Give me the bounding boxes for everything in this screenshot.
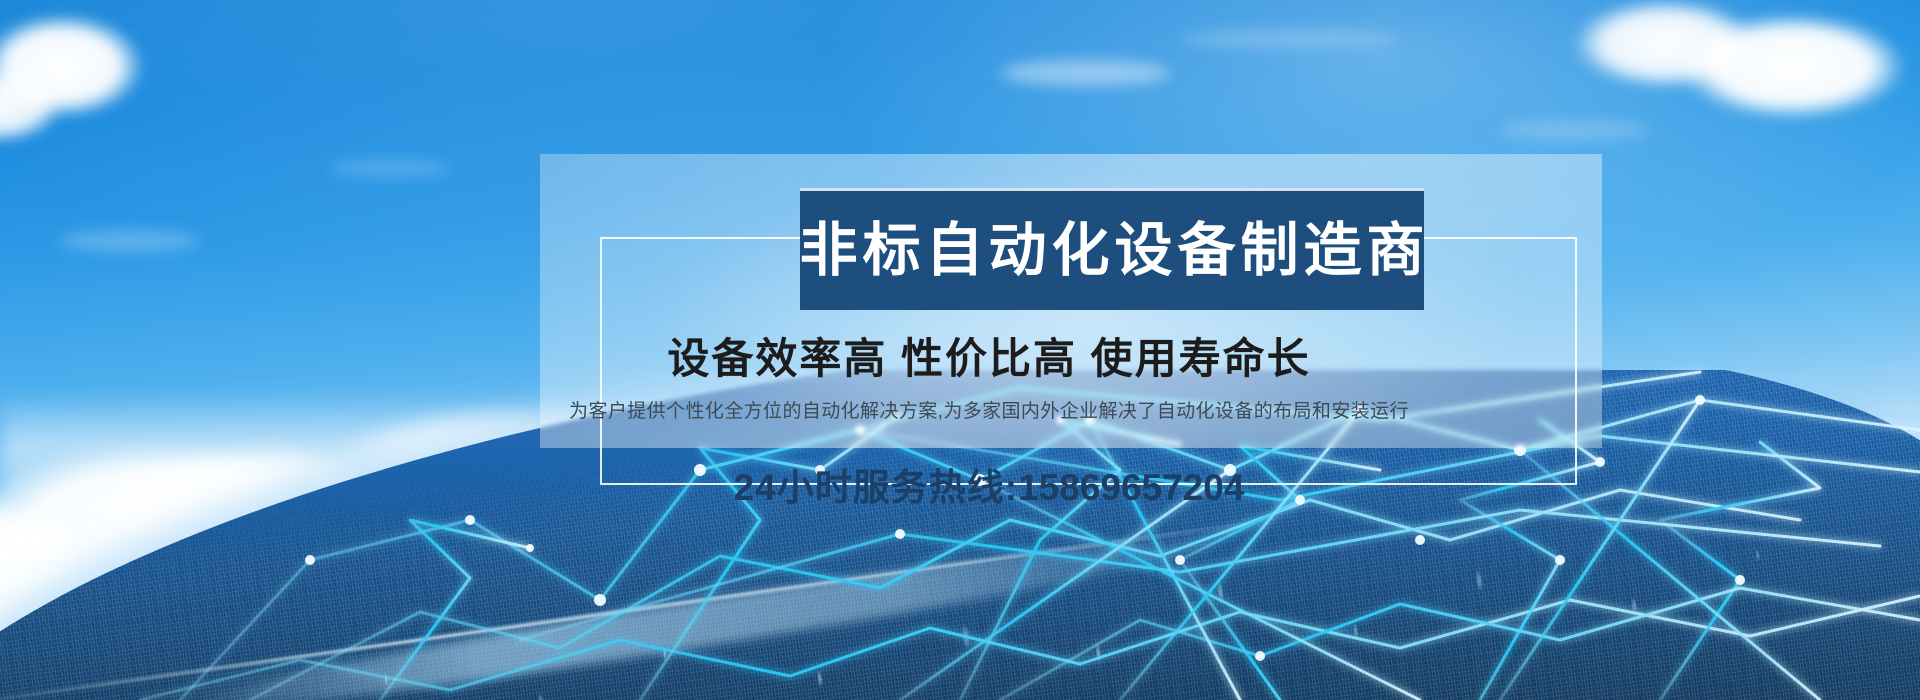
hotline-number[interactable]: 15869657204 bbox=[1018, 467, 1244, 508]
description-text: 为客户提供个性化全方位的自动化解决方案,为多家国内外企业解决了自动化设备的布局和… bbox=[29, 396, 1920, 423]
cloud-wisp-2 bbox=[1180, 30, 1400, 48]
page-title: 非标自动化设备制造商 bbox=[795, 222, 1430, 280]
hotline-row: 24小时服务热线:15869657204 bbox=[29, 457, 1920, 511]
subtitle-text: 设备效率高 性价比高 使用寿命长 bbox=[29, 325, 1920, 386]
cloud-top-left bbox=[0, 0, 230, 150]
title-banner-box: 非标自动化设备制造商 bbox=[800, 188, 1424, 310]
cloud-wisp-5 bbox=[60, 230, 200, 252]
hero-banner: 非标自动化设备制造商 设备效率高 性价比高 使用寿命长 为客户提供个性化全方位的… bbox=[0, 0, 1920, 700]
cloud-wisp-1 bbox=[1000, 60, 1170, 86]
cloud-wisp-4 bbox=[1500, 120, 1650, 140]
hotline-label: 24小时服务热线: bbox=[734, 467, 1018, 508]
cloud-wisp-3 bbox=[330, 160, 450, 176]
